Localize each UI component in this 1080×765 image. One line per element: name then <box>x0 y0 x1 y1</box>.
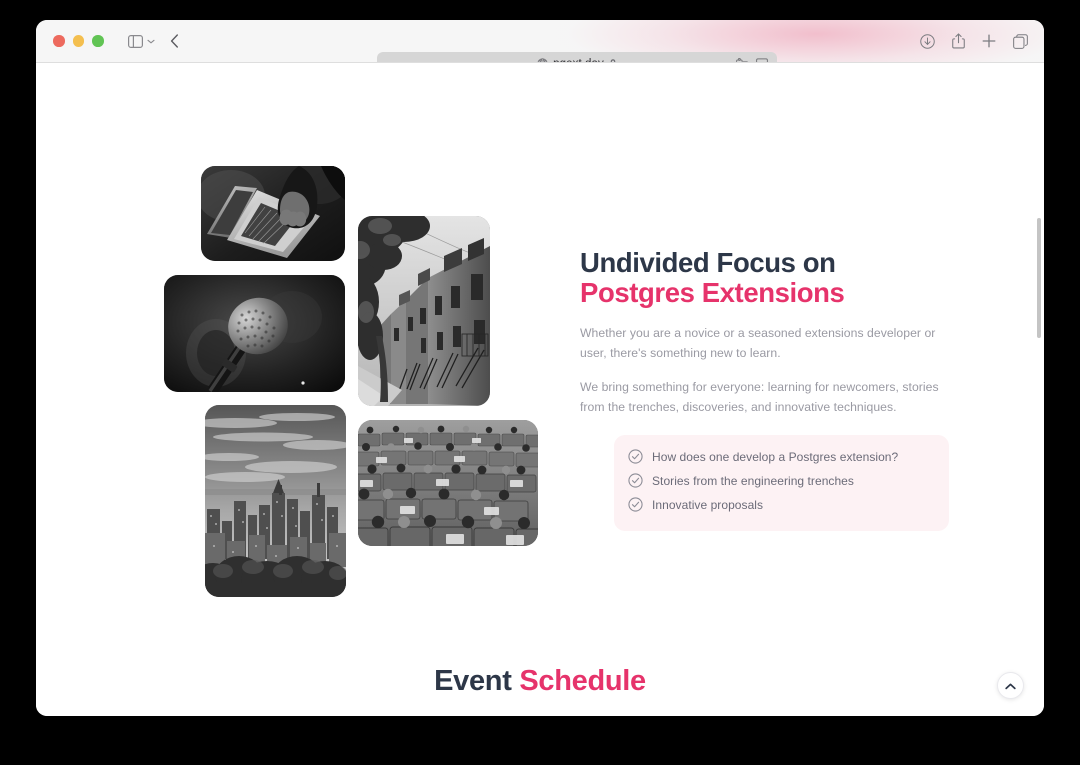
list-item: Innovative proposals <box>628 497 949 512</box>
hero-paragraph-1: Whether you are a novice or a seasoned e… <box>580 324 960 364</box>
highlights-card: How does one develop a Postgres extensio… <box>614 435 949 531</box>
address-bar[interactable]: pgext.day <box>377 52 777 63</box>
chevron-down-icon <box>147 39 155 44</box>
share-icon[interactable] <box>952 33 965 49</box>
address-bar-actions <box>736 52 768 63</box>
chevron-up-icon <box>1005 677 1016 695</box>
minimize-window-button[interactable] <box>73 35 85 47</box>
photo-laptop <box>201 166 345 261</box>
check-circle-icon <box>628 497 643 512</box>
photo-mic <box>164 275 345 392</box>
window-controls <box>53 35 104 47</box>
page-viewport: Undivided Focus on Postgres Extensions W… <box>36 63 1044 716</box>
schedule-section: Event Schedule Monday, May 12, 2025 <box>36 583 1044 716</box>
back-button[interactable] <box>170 34 179 48</box>
page-scrollbar[interactable] <box>1037 218 1041 338</box>
list-item: Stories from the engineering trenches <box>628 473 949 488</box>
sidebar-toggle-button[interactable] <box>128 35 155 48</box>
tab-overview-icon[interactable] <box>1013 34 1028 49</box>
check-circle-icon <box>628 473 643 488</box>
photo-skyline <box>205 405 346 597</box>
hero-text-column: Undivided Focus on Postgres Extensions W… <box>580 248 960 417</box>
hero-paragraph-2: We bring something for everyone: learnin… <box>580 378 960 418</box>
toolbar-actions <box>920 20 1028 62</box>
page-title-line-2: Postgres Extensions <box>580 278 960 308</box>
page-title: Undivided Focus on Postgres Extensions <box>580 248 960 307</box>
schedule-heading-pink: Schedule <box>519 665 646 697</box>
browser-toolbar: pgext.day <box>36 20 1044 63</box>
sidebar-icon <box>128 35 143 48</box>
list-item-label: Stories from the engineering trenches <box>652 474 854 488</box>
photo-street <box>358 216 490 406</box>
list-item: How does one develop a Postgres extensio… <box>628 449 949 464</box>
photo-collage <box>36 63 556 583</box>
list-item-label: How does one develop a Postgres extensio… <box>652 450 898 464</box>
browser-window: pgext.day <box>36 20 1044 716</box>
downloads-icon[interactable] <box>920 34 935 49</box>
check-circle-icon <box>628 449 643 464</box>
close-window-button[interactable] <box>53 35 65 47</box>
list-item-label: Innovative proposals <box>652 498 763 512</box>
photo-audience <box>358 420 538 546</box>
zoom-window-button[interactable] <box>92 35 104 47</box>
schedule-heading: Event Schedule <box>36 665 1044 698</box>
schedule-heading-dark: Event <box>434 665 511 697</box>
new-tab-icon[interactable] <box>982 34 996 48</box>
page-title-line-1: Undivided Focus on <box>580 248 960 278</box>
hero-section: Undivided Focus on Postgres Extensions W… <box>36 63 1044 583</box>
scroll-to-top-button[interactable] <box>997 672 1024 699</box>
